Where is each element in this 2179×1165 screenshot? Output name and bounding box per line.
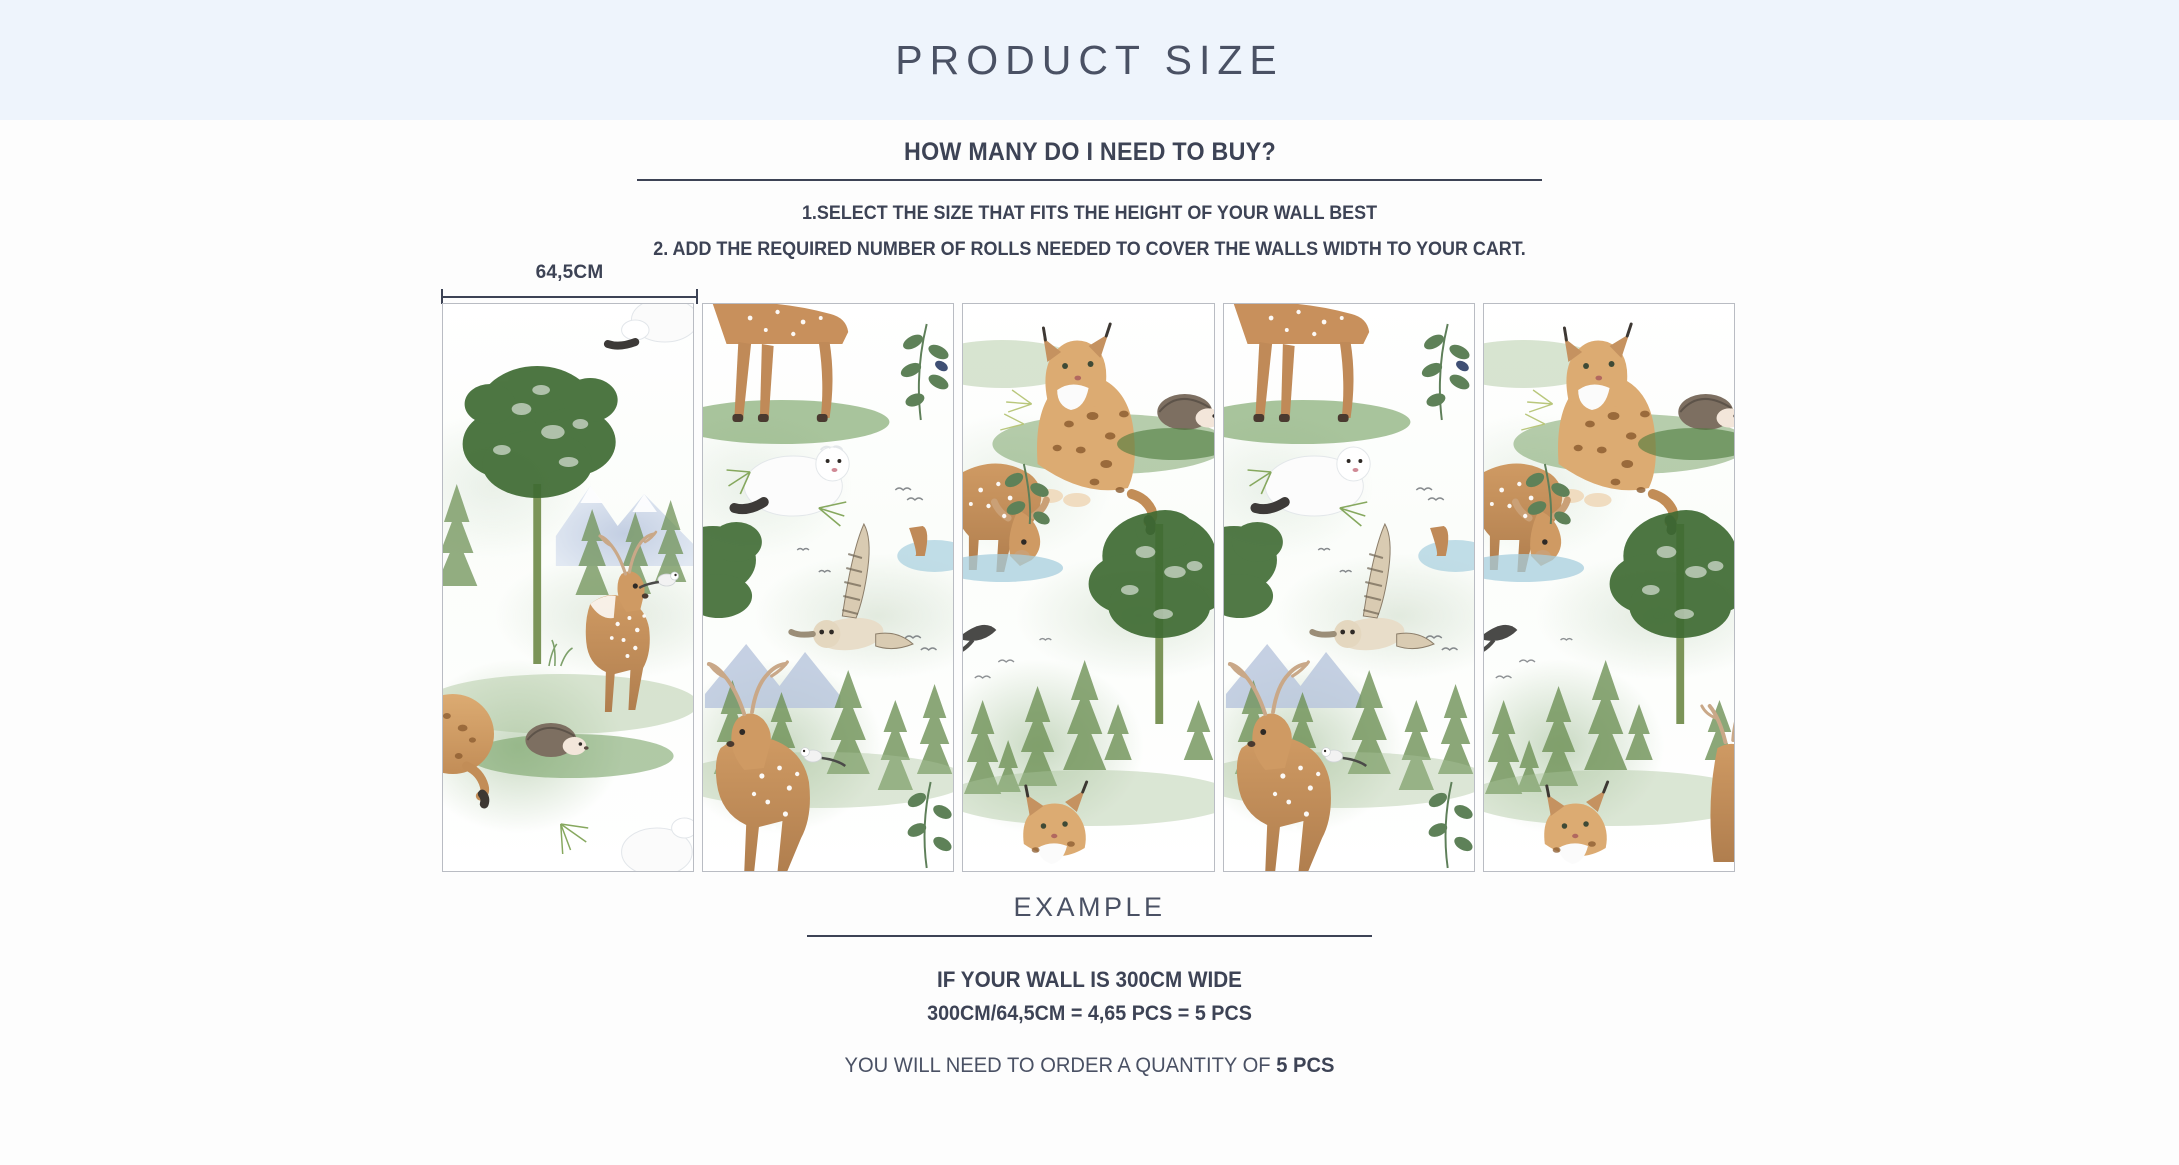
wallpaper-panel[interactable]: [962, 303, 1214, 872]
instruction-step-2: 2. ADD THE REQUIRED NUMBER OF ROLLS NEED…: [87, 238, 2092, 261]
measurement-bar: [441, 289, 698, 303]
pond-water: [1484, 554, 1584, 582]
tree-canopy: [1609, 510, 1734, 638]
ermine-illustration: [608, 304, 693, 346]
pond-water: [963, 554, 1063, 582]
page-header: PRODUCT SIZE: [0, 0, 2179, 120]
wallpaper-artwork: [963, 304, 1213, 871]
instructions-heading: HOW MANY DO I NEED TO BUY?: [904, 138, 1276, 167]
wallpaper-panel[interactable]: [702, 303, 954, 872]
forest-scene-illustration: [1224, 304, 1474, 871]
owl-illustration: [792, 524, 914, 653]
bird-silhouettes: [975, 639, 1052, 679]
tree-canopy: [1089, 510, 1214, 638]
hedgehog-illustration: [1678, 394, 1734, 430]
owl-illustration: [1312, 524, 1434, 653]
page-title: PRODUCT SIZE: [895, 37, 1284, 84]
wallpaper-panel[interactable]: [1483, 303, 1735, 872]
wallpaper-artwork: [1224, 304, 1474, 871]
forest-scene-illustration: [703, 304, 953, 871]
width-measurement: 64,5CM: [441, 262, 698, 303]
forest-scene-illustration: [443, 304, 693, 871]
bird-illustration: [1484, 625, 1517, 652]
wallpaper-artwork: [1484, 304, 1734, 871]
eucalyptus-sprig: [1419, 324, 1471, 420]
wallpaper-artwork: [703, 304, 953, 871]
bird-illustration: [963, 625, 996, 652]
bird-silhouettes: [1496, 639, 1573, 679]
measurement-tick-right: [696, 289, 698, 304]
instruction-step-1: 1.SELECT THE SIZE THAT FITS THE HEIGHT O…: [87, 202, 2092, 225]
example-divider: [807, 935, 1372, 937]
example-order-amount: 5 PCS: [1276, 1054, 1334, 1077]
wallpaper-panel[interactable]: [1223, 303, 1475, 872]
forest-scene-illustration: [1484, 304, 1734, 871]
ermine-illustration: [622, 818, 694, 871]
example-wall-width: IF YOUR WALL IS 300CM WIDE: [65, 967, 2113, 993]
wallpaper-panel[interactable]: [442, 303, 694, 872]
example-section: EXAMPLE IF YOUR WALL IS 300CM WIDE 300CM…: [0, 892, 2179, 1078]
width-measurement-label: 64,5CM: [441, 262, 698, 284]
example-title: EXAMPLE: [0, 892, 2179, 923]
forest-scene-illustration: [963, 304, 1213, 871]
heading-divider: [637, 179, 1542, 181]
hedgehog-illustration: [1158, 394, 1214, 430]
example-order-quantity: YOU WILL NEED TO ORDER A QUANTITY OF 5 P…: [44, 1054, 2136, 1078]
wallpaper-panel-row: [442, 303, 1735, 872]
wallpaper-artwork: [443, 304, 693, 871]
pine-sprig: [561, 824, 588, 854]
eucalyptus-sprig: [899, 324, 951, 420]
example-order-prefix: YOU WILL NEED TO ORDER A QUANTITY OF: [845, 1054, 1277, 1077]
instructions-section: HOW MANY DO I NEED TO BUY? 1.SELECT THE …: [0, 120, 2179, 261]
example-calculation: 300CM/64,5CM = 4,65 PCS = 5 PCS: [65, 1002, 2113, 1026]
measurement-line: [441, 296, 698, 298]
